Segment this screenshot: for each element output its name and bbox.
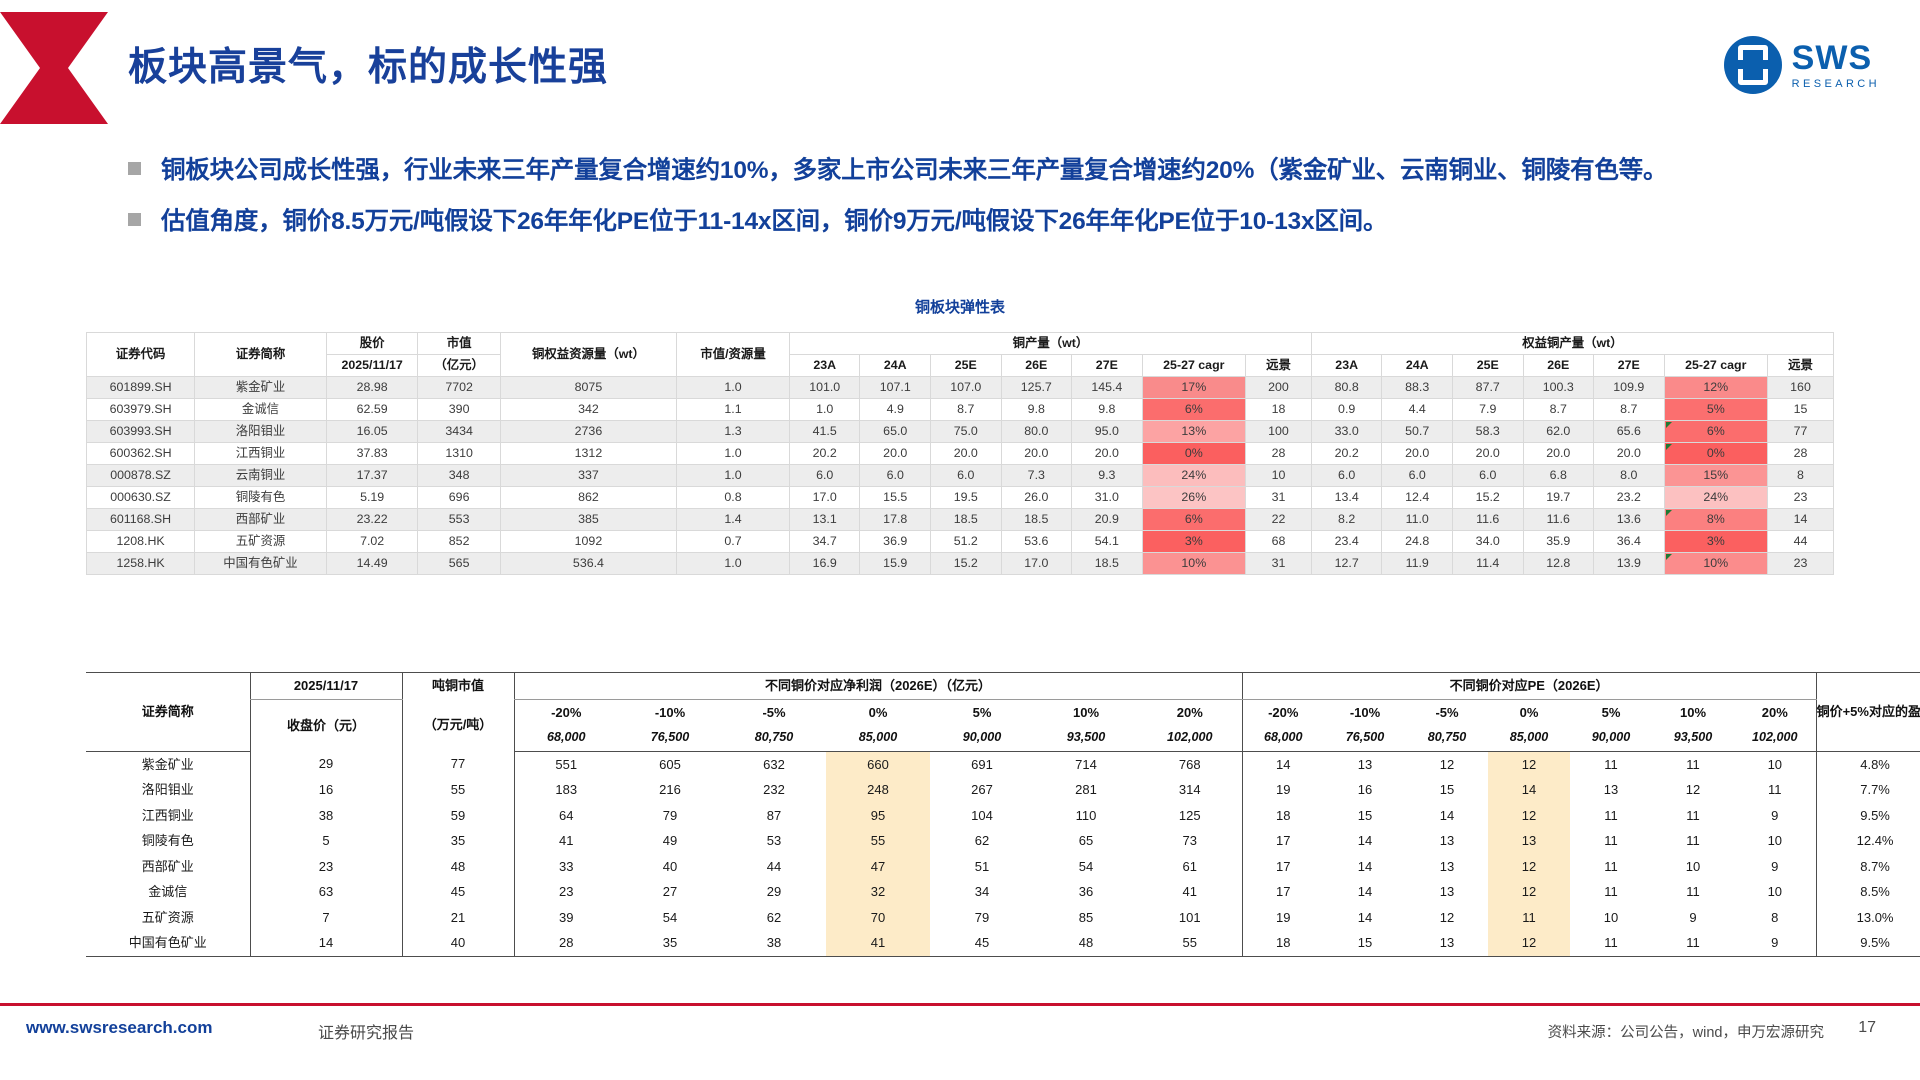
- logo-subtitle: RESEARCH: [1792, 79, 1880, 90]
- table-row: 金诚信634523272932343641171413121111108.5%: [86, 879, 1920, 905]
- cell-equity-27E: 109.9: [1594, 377, 1665, 399]
- cell-output-cagr: 3%: [1142, 531, 1245, 553]
- cell-elasticity: 8.5%: [1816, 879, 1920, 905]
- cell-code: 603993.SH: [87, 421, 195, 443]
- cell-price: 62.59: [326, 399, 418, 421]
- cell-name: 江西铜业: [195, 443, 327, 465]
- cell-output-25E: 15.2: [931, 553, 1002, 575]
- th2-pr-6: 93,500: [1034, 725, 1138, 751]
- cell-mktcap: 553: [418, 509, 500, 531]
- cell-code: 601899.SH: [87, 377, 195, 399]
- cell-pe-0%: 11: [1488, 905, 1570, 931]
- cell-profit--20%: 41: [514, 828, 618, 854]
- cell-profit--5%: 38: [722, 930, 826, 956]
- th2-date: 2025/11/17: [250, 673, 402, 700]
- cell-profit-5%: 34: [930, 879, 1034, 905]
- th2-p-m10: -10%: [618, 699, 722, 725]
- th-group-output: 铜产量（wt）: [789, 333, 1311, 355]
- th-ratio: 市值/资源量: [677, 333, 790, 377]
- table-row: 江西铜业38596479879510411012518151412111199.…: [86, 803, 1920, 829]
- cell-close: 5: [250, 828, 402, 854]
- cell-mktcap: 696: [418, 487, 500, 509]
- cell-pe-20%: 10: [1734, 828, 1816, 854]
- table-row: 1258.HK中国有色矿业14.49565536.41.016.915.915.…: [87, 553, 1834, 575]
- cell-equity-cagr: 24%: [1664, 487, 1767, 509]
- cell-ratio: 1.1: [677, 399, 790, 421]
- copper-price-sensitivity-table: 证券简称 2025/11/17 吨铜市值 不同铜价对应净利润（2026E）（亿元…: [86, 672, 1920, 957]
- cell-equity-23A: 23.4: [1311, 531, 1382, 553]
- bullet-item: 估值角度，铜价8.5万元/吨假设下26年年化PE位于11-14x区间，铜价9万元…: [128, 203, 1858, 240]
- cell-equity-23A: 13.4: [1311, 487, 1382, 509]
- table1-header-row-1: 证券代码 证券简称 股价 市值 铜权益资源量（wt） 市值/资源量 铜产量（wt…: [87, 333, 1834, 355]
- table-row: 000878.SZ云南铜业17.373483371.06.06.06.07.39…: [87, 465, 1834, 487]
- cell-output-outlook: 22: [1246, 509, 1312, 531]
- cell-output-26E: 80.0: [1001, 421, 1072, 443]
- cell-mktcap: 565: [418, 553, 500, 575]
- cell-equity-23A: 33.0: [1311, 421, 1382, 443]
- cell-equity-24A: 12.4: [1382, 487, 1453, 509]
- th-out-25e: 25E: [931, 355, 1002, 377]
- cell-equity-27E: 23.2: [1594, 487, 1665, 509]
- cell-mktcap: 3434: [418, 421, 500, 443]
- cell-pe-5%: 11: [1570, 803, 1652, 829]
- th2-epr-2: 76,500: [1324, 725, 1406, 751]
- cell-name: 中国有色矿业: [86, 930, 250, 956]
- cell-profit--20%: 39: [514, 905, 618, 931]
- bullet-item: 铜板块公司成长性强，行业未来三年产量复合增速约10%，多家上市公司未来三年产量复…: [128, 152, 1858, 189]
- cell-profit-0%: 660: [826, 751, 930, 777]
- cell-pe-0%: 12: [1488, 751, 1570, 777]
- cell-code: 1258.HK: [87, 553, 195, 575]
- cell-profit--20%: 23: [514, 879, 618, 905]
- cell-price: 17.37: [326, 465, 418, 487]
- cell-profit--5%: 87: [722, 803, 826, 829]
- cell-pe-5%: 11: [1570, 879, 1652, 905]
- cell-price: 28.98: [326, 377, 418, 399]
- th2-e-m10: -10%: [1324, 699, 1406, 725]
- cell-output-outlook: 10: [1246, 465, 1312, 487]
- table-row: 1208.HK五矿资源7.0285210920.734.736.951.253.…: [87, 531, 1834, 553]
- cell-output-25E: 20.0: [931, 443, 1002, 465]
- cell-equity-cagr: 15%: [1664, 465, 1767, 487]
- cell-output-24A: 15.9: [860, 553, 931, 575]
- bullet-text: 估值角度，铜价8.5万元/吨假设下26年年化PE位于11-14x区间，铜价9万元…: [161, 203, 1387, 240]
- cell-profit-0%: 55: [826, 828, 930, 854]
- cell-output-23A: 17.0: [789, 487, 860, 509]
- cell-pe-5%: 11: [1570, 751, 1652, 777]
- cell-equity-25E: 34.0: [1452, 531, 1523, 553]
- cell-ratio: 1.3: [677, 421, 790, 443]
- cell-profit-0%: 95: [826, 803, 930, 829]
- bullet-text: 铜板块公司成长性强，行业未来三年产量复合增速约10%，多家上市公司未来三年产量复…: [161, 152, 1667, 189]
- table-row: 000630.SZ铜陵有色5.196968620.817.015.519.526…: [87, 487, 1834, 509]
- cell-output-outlook: 31: [1246, 553, 1312, 575]
- cell-output-27E: 145.4: [1072, 377, 1143, 399]
- cell-profit-20%: 55: [1138, 930, 1242, 956]
- th2-tonval: 吨铜市值: [402, 673, 514, 700]
- cell-name: 五矿资源: [195, 531, 327, 553]
- cell-output-23A: 34.7: [789, 531, 860, 553]
- table2-header-row-1: 证券简称 2025/11/17 吨铜市值 不同铜价对应净利润（2026E）（亿元…: [86, 673, 1920, 700]
- cell-output-25E: 51.2: [931, 531, 1002, 553]
- cell-pe--20%: 18: [1242, 803, 1324, 829]
- cell-pe--5%: 14: [1406, 803, 1488, 829]
- cell-output-outlook: 200: [1246, 377, 1312, 399]
- cell-profit--20%: 64: [514, 803, 618, 829]
- th-eq-outlook: 远景: [1768, 355, 1834, 377]
- cell-pe-0%: 13: [1488, 828, 1570, 854]
- table1-header-row-2: 2025/11/17 （亿元） 23A 24A 25E 26E 27E 25-2…: [87, 355, 1834, 377]
- table-row: 603993.SH洛阳钼业16.05343427361.341.565.075.…: [87, 421, 1834, 443]
- cell-name: 铜陵有色: [86, 828, 250, 854]
- cell-equity-23A: 8.2: [1311, 509, 1382, 531]
- cell-equity-outlook: 8: [1768, 465, 1834, 487]
- table2-head: 证券简称 2025/11/17 吨铜市值 不同铜价对应净利润（2026E）（亿元…: [86, 673, 1920, 752]
- cell-pe-0%: 14: [1488, 777, 1570, 803]
- cell-output-cagr: 26%: [1142, 487, 1245, 509]
- cell-price: 16.05: [326, 421, 418, 443]
- cell-profit--5%: 53: [722, 828, 826, 854]
- cell-output-27E: 31.0: [1072, 487, 1143, 509]
- cell-profit-20%: 61: [1138, 854, 1242, 880]
- cell-pe--20%: 17: [1242, 854, 1324, 880]
- table-row: 600362.SH江西铜业37.83131013121.020.220.020.…: [87, 443, 1834, 465]
- cell-resource: 8075: [500, 377, 676, 399]
- cell-elasticity: 9.5%: [1816, 930, 1920, 956]
- cell-price: 23.22: [326, 509, 418, 531]
- cell-pe-20%: 9: [1734, 803, 1816, 829]
- cell-mktcap: 7702: [418, 377, 500, 399]
- th2-e-20: 20%: [1734, 699, 1816, 725]
- th-eq-cagr: 25-27 cagr: [1664, 355, 1767, 377]
- cell-equity-23A: 12.7: [1311, 553, 1382, 575]
- cell-pe-20%: 8: [1734, 905, 1816, 931]
- th2-close: 收盘价（元）: [250, 699, 402, 751]
- th-name: 证券简称: [195, 333, 327, 377]
- cell-profit-0%: 248: [826, 777, 930, 803]
- th-out-cagr: 25-27 cagr: [1142, 355, 1245, 377]
- table-row: 铜陵有色535414953556265731714131311111012.4%: [86, 828, 1920, 854]
- cell-pe--5%: 12: [1406, 905, 1488, 931]
- th2-p-20: 20%: [1138, 699, 1242, 725]
- cell-equity-cagr: 10%: [1664, 553, 1767, 575]
- slide-header: 板块高景气，标的成长性强 SWS RESEARCH: [0, 0, 1920, 136]
- cell-profit-10%: 48: [1034, 930, 1138, 956]
- th2-pr-4: 85,000: [826, 725, 930, 751]
- cell-pe--20%: 19: [1242, 777, 1324, 803]
- cell-resource: 862: [500, 487, 676, 509]
- cell-equity-27E: 36.4: [1594, 531, 1665, 553]
- cell-resource: 2736: [500, 421, 676, 443]
- footer-website[interactable]: www.swsresearch.com: [26, 1018, 212, 1038]
- cell-profit--5%: 232: [722, 777, 826, 803]
- cell-profit-5%: 45: [930, 930, 1034, 956]
- cell-resource: 385: [500, 509, 676, 531]
- cell-close: 63: [250, 879, 402, 905]
- table2-body: 紫金矿业297755160563266069171476814131212111…: [86, 751, 1920, 956]
- th-eq-26e: 26E: [1523, 355, 1594, 377]
- cell-equity-27E: 65.6: [1594, 421, 1665, 443]
- th2-e-m5: -5%: [1406, 699, 1488, 725]
- cell-output-23A: 1.0: [789, 399, 860, 421]
- cell-output-cagr: 24%: [1142, 465, 1245, 487]
- cell-profit--20%: 28: [514, 930, 618, 956]
- cell-name: 西部矿业: [195, 509, 327, 531]
- cell-equity-cagr: 3%: [1664, 531, 1767, 553]
- cell-output-24A: 20.0: [860, 443, 931, 465]
- th2-group-profit: 不同铜价对应净利润（2026E）（亿元）: [514, 673, 1242, 700]
- cell-close: 29: [250, 751, 402, 777]
- cell-output-outlook: 18: [1246, 399, 1312, 421]
- cell-profit-20%: 314: [1138, 777, 1242, 803]
- cell-equity-27E: 13.9: [1594, 553, 1665, 575]
- cell-profit--5%: 632: [722, 751, 826, 777]
- cell-profit-5%: 691: [930, 751, 1034, 777]
- th-code: 证券代码: [87, 333, 195, 377]
- cell-elasticity: 12.4%: [1816, 828, 1920, 854]
- cell-equity-27E: 8.0: [1594, 465, 1665, 487]
- table1-title: 铜板块弹性表: [0, 296, 1920, 317]
- cell-equity-27E: 13.6: [1594, 509, 1665, 531]
- cell-output-23A: 101.0: [789, 377, 860, 399]
- cell-output-25E: 107.0: [931, 377, 1002, 399]
- cell-resource: 536.4: [500, 553, 676, 575]
- cell-equity-24A: 6.0: [1382, 465, 1453, 487]
- bullet-list: 铜板块公司成长性强，行业未来三年产量复合增速约10%，多家上市公司未来三年产量复…: [128, 152, 1858, 254]
- cell-pe--5%: 13: [1406, 828, 1488, 854]
- cell-output-26E: 18.5: [1001, 509, 1072, 531]
- cell-output-23A: 6.0: [789, 465, 860, 487]
- cell-equity-23A: 0.9: [1311, 399, 1382, 421]
- cell-output-27E: 95.0: [1072, 421, 1143, 443]
- cell-equity-23A: 20.2: [1311, 443, 1382, 465]
- cell-profit-10%: 65: [1034, 828, 1138, 854]
- cell-output-26E: 9.8: [1001, 399, 1072, 421]
- cell-output-26E: 20.0: [1001, 443, 1072, 465]
- cell-output-26E: 125.7: [1001, 377, 1072, 399]
- cell-close: 38: [250, 803, 402, 829]
- cell-pe-10%: 9: [1652, 905, 1734, 931]
- table-row: 601899.SH紫金矿业28.98770280751.0101.0107.11…: [87, 377, 1834, 399]
- cell-equity-25E: 20.0: [1452, 443, 1523, 465]
- cell-output-23A: 13.1: [789, 509, 860, 531]
- cell-profit--20%: 33: [514, 854, 618, 880]
- th-eq-24a: 24A: [1382, 355, 1453, 377]
- cell-profit-20%: 101: [1138, 905, 1242, 931]
- cell-pe--10%: 14: [1324, 905, 1406, 931]
- th2-e-5: 5%: [1570, 699, 1652, 725]
- cell-equity-outlook: 14: [1768, 509, 1834, 531]
- cell-pe--5%: 13: [1406, 854, 1488, 880]
- cell-profit-5%: 62: [930, 828, 1034, 854]
- cell-equity-23A: 80.8: [1311, 377, 1382, 399]
- cell-equity-cagr: 5%: [1664, 399, 1767, 421]
- th-price: 股价: [326, 333, 418, 355]
- footer-report-label: 证券研究报告: [318, 1019, 414, 1043]
- cell-equity-25E: 15.2: [1452, 487, 1523, 509]
- cell-equity-25E: 11.4: [1452, 553, 1523, 575]
- cell-pe--10%: 14: [1324, 828, 1406, 854]
- th-out-23a: 23A: [789, 355, 860, 377]
- cell-equity-26E: 8.7: [1523, 399, 1594, 421]
- copper-elasticity-table: 证券代码 证券简称 股价 市值 铜权益资源量（wt） 市值/资源量 铜产量（wt…: [86, 332, 1834, 575]
- cell-pe--5%: 15: [1406, 777, 1488, 803]
- cell-elasticity: 13.0%: [1816, 905, 1920, 931]
- th2-name: 证券简称: [86, 673, 250, 752]
- cell-output-25E: 19.5: [931, 487, 1002, 509]
- cell-output-25E: 18.5: [931, 509, 1002, 531]
- cell-equity-outlook: 28: [1768, 443, 1834, 465]
- cell-name: 洛阳钼业: [195, 421, 327, 443]
- cell-output-24A: 107.1: [860, 377, 931, 399]
- cell-profit--5%: 62: [722, 905, 826, 931]
- th2-p-m5: -5%: [722, 699, 826, 725]
- cell-pe-0%: 12: [1488, 854, 1570, 880]
- cell-price: 7.02: [326, 531, 418, 553]
- cell-profit--10%: 27: [618, 879, 722, 905]
- cell-close: 7: [250, 905, 402, 931]
- cell-equity-24A: 11.0: [1382, 509, 1453, 531]
- th2-p-m20: -20%: [514, 699, 618, 725]
- cell-name: 中国有色矿业: [195, 553, 327, 575]
- cell-ratio: 1.0: [677, 465, 790, 487]
- cell-output-24A: 6.0: [860, 465, 931, 487]
- cell-profit-5%: 104: [930, 803, 1034, 829]
- cell-equity-outlook: 160: [1768, 377, 1834, 399]
- cell-pe--5%: 13: [1406, 930, 1488, 956]
- cell-equity-cagr: 8%: [1664, 509, 1767, 531]
- cell-price: 37.83: [326, 443, 418, 465]
- cell-pe-10%: 11: [1652, 828, 1734, 854]
- cell-ratio: 1.0: [677, 553, 790, 575]
- cell-profit--10%: 79: [618, 803, 722, 829]
- cell-output-27E: 9.8: [1072, 399, 1143, 421]
- cell-equity-24A: 4.4: [1382, 399, 1453, 421]
- cell-ratio: 0.8: [677, 487, 790, 509]
- cell-price: 14.49: [326, 553, 418, 575]
- cell-resource: 342: [500, 399, 676, 421]
- cell-equity-26E: 12.8: [1523, 553, 1594, 575]
- cell-profit--20%: 183: [514, 777, 618, 803]
- cell-profit-0%: 41: [826, 930, 930, 956]
- cell-equity-27E: 20.0: [1594, 443, 1665, 465]
- cell-profit-10%: 54: [1034, 854, 1138, 880]
- th2-epr-1: 68,000: [1242, 725, 1324, 751]
- cell-pe-5%: 11: [1570, 854, 1652, 880]
- th-eq-27e: 27E: [1594, 355, 1665, 377]
- cell-equity-25E: 7.9: [1452, 399, 1523, 421]
- cell-equity-24A: 20.0: [1382, 443, 1453, 465]
- cell-mktcap: 852: [418, 531, 500, 553]
- table1-head: 证券代码 证券简称 股价 市值 铜权益资源量（wt） 市值/资源量 铜产量（wt…: [87, 333, 1834, 377]
- cell-profit-20%: 41: [1138, 879, 1242, 905]
- th2-pr-1: 68,000: [514, 725, 618, 751]
- cell-profit-10%: 714: [1034, 751, 1138, 777]
- cell-output-26E: 7.3: [1001, 465, 1072, 487]
- cell-profit--5%: 29: [722, 879, 826, 905]
- cell-pe--10%: 15: [1324, 930, 1406, 956]
- cell-output-outlook: 31: [1246, 487, 1312, 509]
- cell-pe--20%: 14: [1242, 751, 1324, 777]
- cell-output-23A: 20.2: [789, 443, 860, 465]
- cell-equity-26E: 62.0: [1523, 421, 1594, 443]
- cell-output-25E: 8.7: [931, 399, 1002, 421]
- cell-tonval: 48: [402, 854, 514, 880]
- th2-p-0: 0%: [826, 699, 930, 725]
- th2-p-5: 5%: [930, 699, 1034, 725]
- cell-equity-cagr: 0%: [1664, 443, 1767, 465]
- cell-profit-0%: 32: [826, 879, 930, 905]
- cell-profit--10%: 605: [618, 751, 722, 777]
- cell-pe-0%: 12: [1488, 930, 1570, 956]
- cell-output-27E: 54.1: [1072, 531, 1143, 553]
- cell-equity-26E: 35.9: [1523, 531, 1594, 553]
- cell-pe--20%: 17: [1242, 828, 1324, 854]
- cell-code: 000630.SZ: [87, 487, 195, 509]
- logo-brand: SWS: [1792, 41, 1880, 75]
- cell-pe-5%: 13: [1570, 777, 1652, 803]
- th-eq-25e: 25E: [1452, 355, 1523, 377]
- th-out-24a: 24A: [860, 355, 931, 377]
- cell-pe-0%: 12: [1488, 803, 1570, 829]
- cell-ratio: 1.0: [677, 443, 790, 465]
- slide: 板块高景气，标的成长性强 SWS RESEARCH 铜板块公司成长性强，行业未来…: [0, 0, 1920, 1080]
- cell-equity-26E: 19.7: [1523, 487, 1594, 509]
- th2-pr-5: 90,000: [930, 725, 1034, 751]
- cell-pe-10%: 11: [1652, 751, 1734, 777]
- th-price-date: 2025/11/17: [326, 355, 418, 377]
- cell-profit--5%: 44: [722, 854, 826, 880]
- cell-tonval: 21: [402, 905, 514, 931]
- cell-profit--10%: 49: [618, 828, 722, 854]
- th2-epr-7: 102,000: [1734, 725, 1816, 751]
- cell-equity-25E: 87.7: [1452, 377, 1523, 399]
- cell-profit-20%: 73: [1138, 828, 1242, 854]
- cell-output-24A: 65.0: [860, 421, 931, 443]
- sws-logo-text: SWS RESEARCH: [1792, 41, 1880, 90]
- table-row: 601168.SH西部矿业23.225533851.413.117.818.51…: [87, 509, 1834, 531]
- cell-equity-23A: 6.0: [1311, 465, 1382, 487]
- cell-equity-cagr: 6%: [1664, 421, 1767, 443]
- cell-equity-24A: 88.3: [1382, 377, 1453, 399]
- cell-output-23A: 16.9: [789, 553, 860, 575]
- cell-profit--10%: 40: [618, 854, 722, 880]
- cell-code: 1208.HK: [87, 531, 195, 553]
- th-out-26e: 26E: [1001, 355, 1072, 377]
- footer-divider: [0, 1003, 1920, 1006]
- th-out-outlook: 远景: [1246, 355, 1312, 377]
- cell-pe-10%: 11: [1652, 879, 1734, 905]
- cell-output-cagr: 6%: [1142, 509, 1245, 531]
- cell-output-outlook: 68: [1246, 531, 1312, 553]
- cell-profit-0%: 70: [826, 905, 930, 931]
- cell-output-27E: 20.0: [1072, 443, 1143, 465]
- cell-output-24A: 4.9: [860, 399, 931, 421]
- th2-e-0: 0%: [1488, 699, 1570, 725]
- cell-profit-5%: 51: [930, 854, 1034, 880]
- cell-pe-5%: 11: [1570, 828, 1652, 854]
- th2-epr-5: 90,000: [1570, 725, 1652, 751]
- cell-profit-10%: 110: [1034, 803, 1138, 829]
- cell-profit-20%: 125: [1138, 803, 1242, 829]
- cell-ratio: 0.7: [677, 531, 790, 553]
- cell-output-cagr: 6%: [1142, 399, 1245, 421]
- cell-pe-5%: 11: [1570, 930, 1652, 956]
- cell-pe-20%: 10: [1734, 879, 1816, 905]
- table-row: 中国有色矿业14402835384145485518151312111199.5…: [86, 930, 1920, 956]
- cell-pe--10%: 13: [1324, 751, 1406, 777]
- cell-profit--10%: 216: [618, 777, 722, 803]
